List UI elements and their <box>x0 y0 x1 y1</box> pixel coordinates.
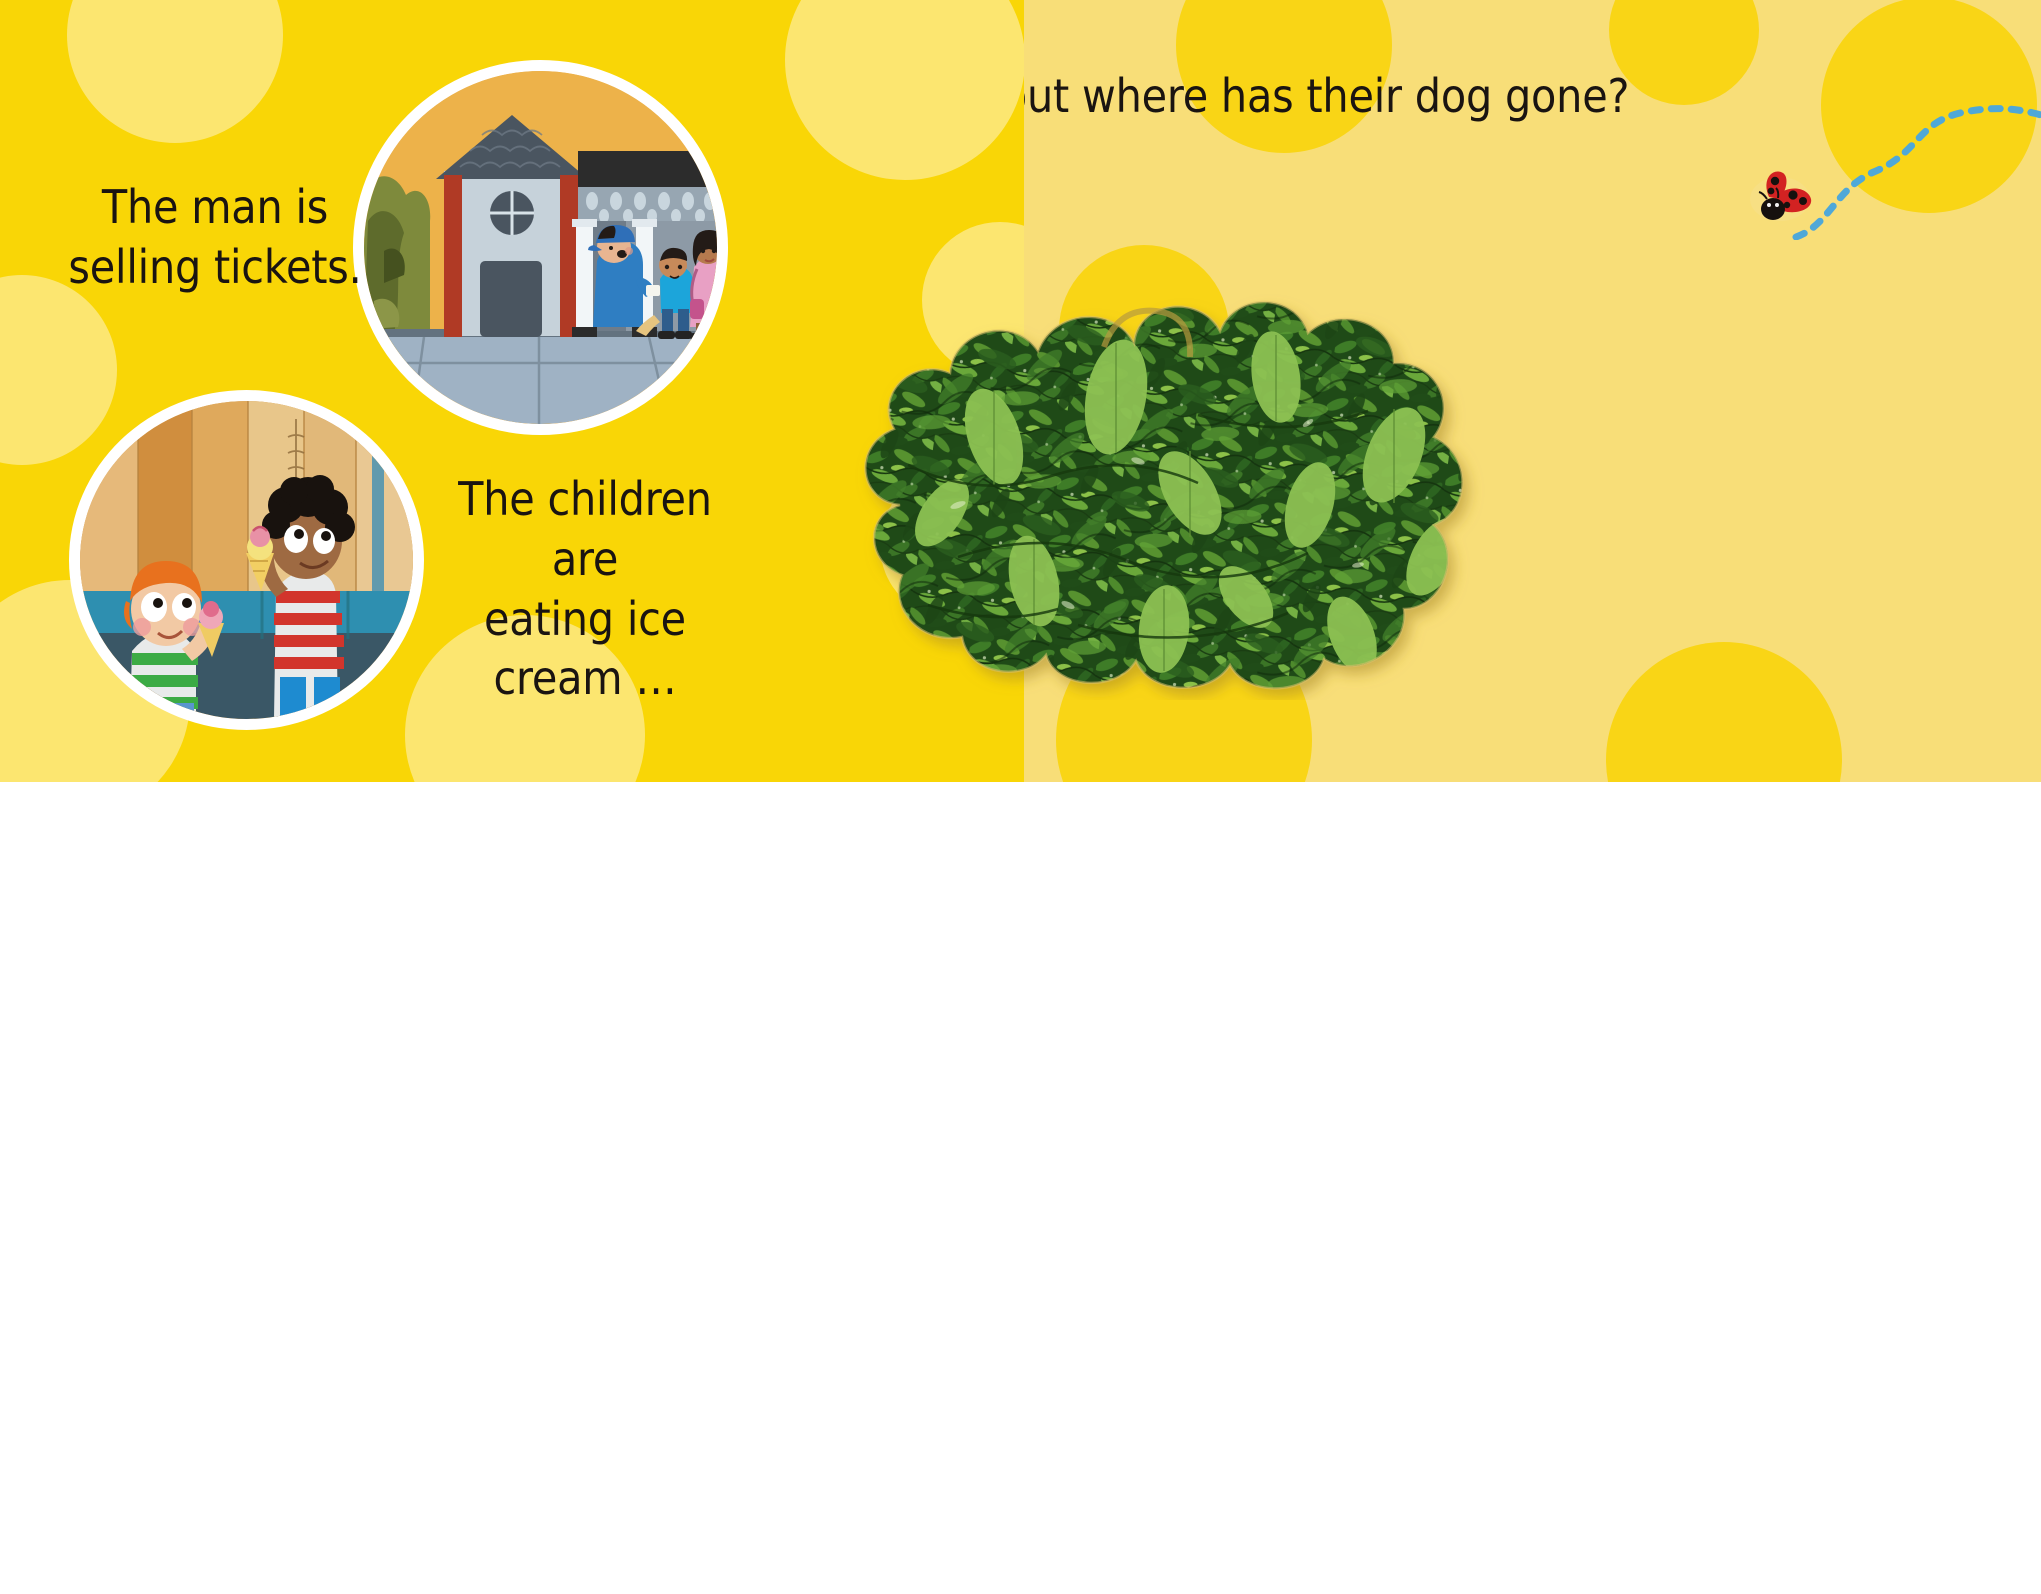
polka-dot <box>1606 642 1842 782</box>
white-area-below-spread <box>0 782 2041 1594</box>
ticket-booth-illustration <box>364 71 717 424</box>
polka-dot <box>0 275 117 465</box>
ladybird-icon <box>1745 163 1815 225</box>
polka-dot <box>67 0 283 143</box>
polka-dot <box>785 0 1024 180</box>
ladybird-trail <box>1790 95 2041 240</box>
vignette-ticket-booth <box>353 60 728 435</box>
ticket-booth-scene <box>364 71 717 424</box>
woman-figure <box>690 230 717 340</box>
ladybird-trail-dots <box>1790 95 2041 240</box>
caption-children-ice-cream: The children are eating ice cream … <box>420 470 750 709</box>
caption-man-selling-tickets: The man is selling tickets. <box>55 178 375 298</box>
bush-flap[interactable] <box>838 205 1488 700</box>
ladybird-illustration <box>1745 163 1815 225</box>
vignette-ice-cream: 1 <box>69 390 424 730</box>
bush-flap-illustration[interactable] <box>838 205 1488 700</box>
ice-cream-scene: 1 <box>80 401 413 719</box>
ice-cream-illustration: 1 <box>80 401 413 719</box>
book-spread: 1 <box>0 0 2041 782</box>
caption-where-is-dog: … but where has their dog gone? <box>1024 67 1668 127</box>
bush-foliage <box>838 205 1488 700</box>
